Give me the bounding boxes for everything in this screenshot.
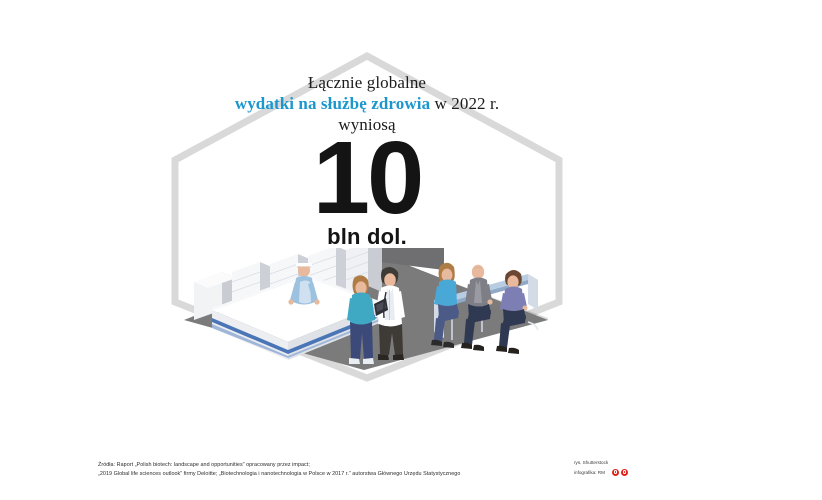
credit-infographic-text: infografika: RM [574,468,605,478]
sources-footnote: Źródła: Raport „Polish biotech: landscap… [98,461,568,479]
publisher-logo-icon-2 [621,469,628,476]
headline-line-2: wydatki na służbę zdrowia w 2022 r. [171,93,563,114]
big-number: 10 [171,128,563,228]
publisher-logos [612,469,628,476]
infographic-canvas: Łącznie globalne wydatki na służbę zdrow… [0,0,822,500]
headline-line-1: Łącznie globalne [171,72,563,93]
credit-illustration-text: rys. Shutterstock [574,458,608,468]
sources-line-1: Źródła: Raport „Polish biotech: landscap… [98,461,568,470]
bench-leg [528,322,538,330]
headline-year-text: w 2022 r. [430,94,499,113]
credit-illustration-row: rys. Shutterstock [574,458,654,468]
publisher-logo-icon-1 [612,469,619,476]
scene-illustration [176,248,558,378]
credit-block: rys. Shutterstock infografika: RM [574,458,654,477]
unit-label: bln dol. [171,224,563,250]
sources-line-2: „2019 Global life sciences outlook” firm… [98,470,568,479]
headline-accent-text: wydatki na służbę zdrowia [235,94,430,113]
credit-infographic-row: infografika: RM [574,468,654,478]
